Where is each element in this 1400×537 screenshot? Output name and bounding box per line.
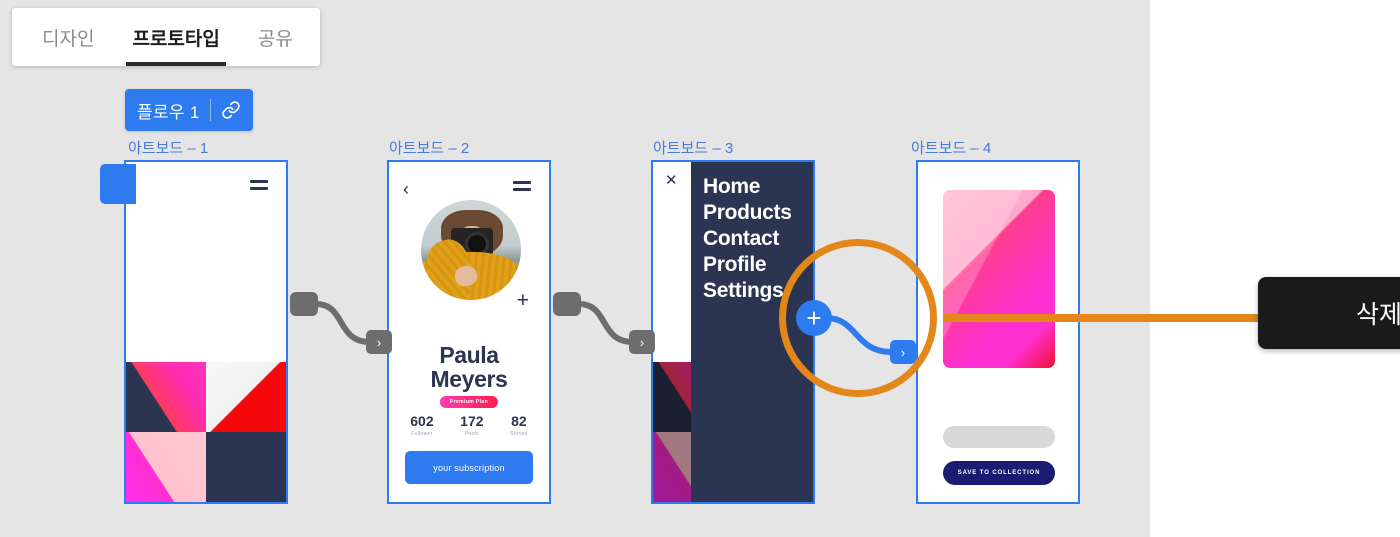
menu-item-contact[interactable]: Contact [703,226,792,252]
decorative-color-grid [126,362,286,502]
selection-highlight-circle [779,239,937,397]
menu-item-products[interactable]: Products [703,200,792,226]
stat-value: 172 [460,414,483,429]
flow-badge-label: 플로우 1 [137,98,200,123]
mode-toolbar[interactable]: 디자인 프로토타입 공유 [12,8,320,66]
menu-item-settings[interactable]: Settings [703,278,792,304]
menu-item-profile[interactable]: Profile [703,252,792,278]
home-flow-tab[interactable] [100,164,136,204]
hamburger-icon[interactable] [513,181,531,191]
chevron-left-icon[interactable]: ‹ [403,180,409,198]
stat-item: 172 Posts [460,414,483,437]
stat-value: 82 [510,414,528,429]
profile-stats: 602 Follower 172 Posts 82 Stories [397,414,541,437]
grid-cell [126,362,206,432]
grid-cell [206,362,286,432]
tab-prototype[interactable]: 프로토타입 [130,8,221,66]
artboard-label-4: 아트보드 – 4 [911,137,991,158]
tab-share[interactable]: 공유 [256,8,295,66]
artboard-label-1: 아트보드 – 1 [128,137,208,158]
menu-items[interactable]: Home Products Contact Profile Settings [703,174,792,304]
artboard-4[interactable]: SAVE TO COLLECTION [916,160,1080,504]
gradient-card-image [943,190,1055,368]
delete-drag-line [944,314,1274,322]
grid-cell [126,432,206,502]
plus-icon[interactable]: + [517,290,529,311]
avatar [421,200,521,300]
connector-2-to-3[interactable]: › [553,292,653,362]
grid-cell [206,432,286,502]
close-icon[interactable]: ✕ [665,173,678,188]
plan-badge: Premium Plan [440,396,498,408]
link-icon[interactable] [221,100,241,120]
save-to-collection-button[interactable]: SAVE TO COLLECTION [943,461,1055,485]
stat-label: Follower [410,431,433,437]
delete-tooltip[interactable]: 삭제 [1258,277,1400,349]
tab-design[interactable]: 디자인 [40,8,96,66]
artboard-label-2: 아트보드 – 2 [389,137,469,158]
artboard-label-3: 아트보드 – 3 [653,137,733,158]
gray-pill-placeholder [943,426,1055,448]
hamburger-icon[interactable] [250,180,268,190]
subscription-button[interactable]: your subscription [405,451,533,484]
profile-name: Paula Meyers [389,344,549,392]
connector-1-to-2[interactable]: › [290,292,390,362]
flow-badge[interactable]: 플로우 1 [125,89,253,131]
flow-badge-divider [210,99,211,121]
delete-tooltip-label: 삭제 [1356,295,1400,331]
stat-item: 82 Stories [510,414,528,437]
artboard-1[interactable]: Wel come. [124,160,288,504]
stat-label: Posts [460,431,483,437]
stat-value: 602 [410,414,433,429]
artboard-2[interactable]: ‹ + Paula Meyers Premium Plan 602 Follow… [387,160,551,504]
menu-item-home[interactable]: Home [703,174,792,200]
prototype-canvas[interactable]: 아트보드 – 1 Wel come. › 아트보드 – 2 ‹ [0,0,1150,537]
stat-label: Stories [510,431,528,437]
stat-item: 602 Follower [410,414,433,437]
